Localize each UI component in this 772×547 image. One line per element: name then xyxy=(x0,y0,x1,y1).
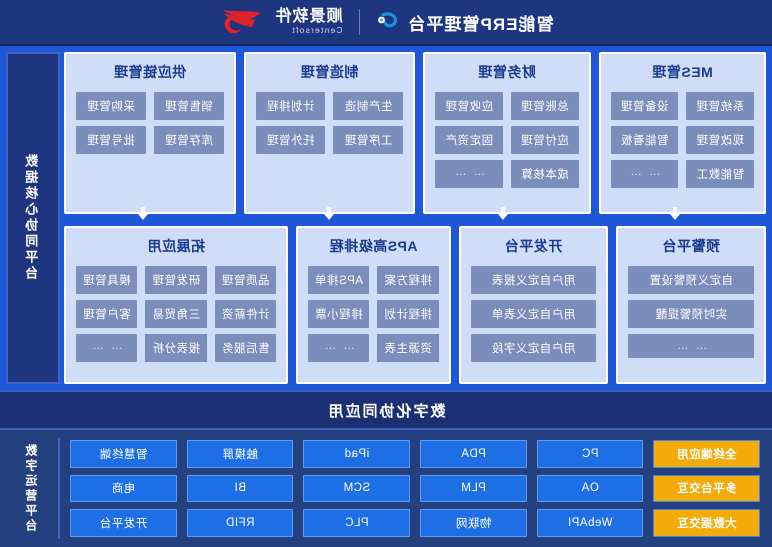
chip-item[interactable]: 模具管理 xyxy=(76,266,137,294)
data-core-rail-label: 数据核心协同平台 xyxy=(24,154,42,282)
chip-item[interactable]: 库存管理 xyxy=(154,126,224,154)
tile-iot[interactable]: 物联网 xyxy=(420,509,527,537)
chip-grid: 排程方案 APS排单 排程计划 排程小票 资源主表 … … xyxy=(308,266,438,362)
chip-item[interactable]: 采购管理 xyxy=(76,92,146,120)
chip-item[interactable]: 设备管理 xyxy=(611,92,679,120)
chip-grid: 用户自定义报表 用户自定义表单 用户自定义字段 xyxy=(471,266,597,362)
main-panel: MES管理 系统管理 设备管理 现改管理 智能看板 智能数工 … … 财务管理 xyxy=(0,46,772,390)
tile-plm[interactable]: PLM xyxy=(420,475,527,503)
tile-ecommerce[interactable]: 电商 xyxy=(70,475,177,503)
digital-collab-band: 数字化协同应用 xyxy=(0,390,772,430)
tile-multi-platform[interactable]: 多平台交互 xyxy=(653,475,760,503)
chip-item[interactable]: 总账管理 xyxy=(511,92,579,120)
card-extended-apps[interactable]: 拓展应用 品质管理 研发管理 模具管理 计件薪资 三角贸易 客户管理 售后服务 … xyxy=(64,226,288,384)
header-divider xyxy=(359,9,360,35)
chip-item[interactable]: 现改管理 xyxy=(686,126,754,154)
chip-item[interactable]: 报表分析 xyxy=(145,334,206,362)
app-header: 智能ERP管理平台 顺景软件 Centersoft xyxy=(0,0,772,46)
chip-item[interactable]: 三角贸易 xyxy=(145,300,206,328)
arrow-down-icon xyxy=(668,207,682,220)
brand-name-cn: 顺景软件 xyxy=(275,9,343,26)
chip-item[interactable]: 工序管理 xyxy=(333,126,403,154)
chip-item[interactable]: 自定义预警设置 xyxy=(628,266,754,294)
tile-touchscreen[interactable]: 触摸屏 xyxy=(187,440,294,468)
header-inner: 智能ERP管理平台 顺景软件 Centersoft xyxy=(219,7,554,37)
page-title-text: 智能ERP管理平台 xyxy=(408,10,554,35)
chip-item[interactable]: 品质管理 xyxy=(215,266,276,294)
page-title: 智能ERP管理平台 xyxy=(376,10,554,35)
bottom-panel: 全终端应用 PC PDA iPad 触摸屏 智慧终端 多平台交互 OA PLM … xyxy=(0,430,772,547)
chip-item[interactable]: 智能看板 xyxy=(611,126,679,154)
module-row-top: MES管理 系统管理 设备管理 现改管理 智能看板 智能数工 … … 财务管理 xyxy=(64,52,766,214)
chip-item[interactable]: 计件薪资 xyxy=(215,300,276,328)
chip-grid: 自定义预警设置 实时预警提醒 … … xyxy=(628,266,754,358)
card-title: 财务管理 xyxy=(435,62,578,82)
chip-item[interactable]: APS排单 xyxy=(308,266,369,294)
tile-oa[interactable]: OA xyxy=(537,475,644,503)
chip-item[interactable]: 计划排程 xyxy=(256,92,326,120)
chip-item[interactable]: 应付管理 xyxy=(511,126,579,154)
arrow-down-icon xyxy=(496,207,510,220)
tile-all-terminal[interactable]: 全终端应用 xyxy=(653,440,760,468)
chip-item[interactable]: 售后服务 xyxy=(215,334,276,362)
chip-item-more[interactable]: … … xyxy=(611,160,679,188)
main-body: MES管理 系统管理 设备管理 现改管理 智能看板 智能数工 … … 财务管理 xyxy=(6,52,766,384)
chip-item[interactable]: 用户自定义字段 xyxy=(471,334,597,362)
tile-ipad[interactable]: iPad xyxy=(303,440,410,468)
card-title: 开发平台 xyxy=(471,236,597,256)
brand-block: 顺景软件 Centersoft xyxy=(275,9,343,36)
chip-item[interactable]: 排程方案 xyxy=(377,266,438,294)
tile-pda[interactable]: PDA xyxy=(420,440,527,468)
tile-dev-platform[interactable]: 开发平台 xyxy=(70,509,177,537)
chip-item-more[interactable]: … … xyxy=(435,160,503,188)
card-supply-chain[interactable]: 供应链管理 销售管理 采购管理 库存管理 批号管理 xyxy=(64,52,236,214)
chip-item[interactable]: 排程计划 xyxy=(377,300,438,328)
tile-scm[interactable]: SCM xyxy=(303,475,410,503)
arrow-down-icon xyxy=(322,207,336,220)
card-title: 制造管理 xyxy=(256,62,404,82)
card-title: MES管理 xyxy=(611,62,754,82)
chip-item[interactable]: 实时预警提醒 xyxy=(628,300,754,328)
module-columns: MES管理 系统管理 设备管理 现改管理 智能看板 智能数工 … … 财务管理 xyxy=(64,52,766,384)
tile-pc[interactable]: PC xyxy=(537,440,644,468)
sc-swirl-icon xyxy=(376,11,400,33)
chip-item-more[interactable]: … … xyxy=(76,334,137,362)
card-aps[interactable]: APS高级排程 排程方案 APS排单 排程计划 排程小票 资源主表 … … xyxy=(296,226,450,384)
chip-item[interactable]: 生产制造 xyxy=(333,92,403,120)
card-mes[interactable]: MES管理 系统管理 设备管理 现改管理 智能看板 智能数工 … … xyxy=(599,52,766,214)
chip-item[interactable]: 批号管理 xyxy=(76,126,146,154)
centersoft-logo-icon xyxy=(219,7,265,37)
tile-bigdata[interactable]: 大数据交互 xyxy=(653,509,760,537)
terminal-tile-grid: 全终端应用 PC PDA iPad 触摸屏 智慧终端 多平台交互 OA PLM … xyxy=(64,438,766,539)
tile-smart-terminal[interactable]: 智慧终端 xyxy=(70,440,177,468)
arrow-down-icon xyxy=(136,207,150,220)
tile-plc[interactable]: PLC xyxy=(303,509,410,537)
chip-grid: 总账管理 应收管理 应付管理 固定资产 成本核算 … … xyxy=(435,92,578,188)
digital-ops-rail: 数字运营平台 xyxy=(6,438,60,539)
chip-item[interactable]: 托外管理 xyxy=(256,126,326,154)
card-alert-platform[interactable]: 预警平台 自定义预警设置 实时预警提醒 … … xyxy=(616,226,766,384)
tile-rfid[interactable]: RFID xyxy=(187,509,294,537)
brand-name-en: Centersoft xyxy=(275,25,343,35)
chip-item[interactable]: 应收管理 xyxy=(435,92,503,120)
diagram-stage: 智能ERP管理平台 顺景软件 Centersoft xyxy=(0,0,772,547)
chip-item-more[interactable]: … … xyxy=(628,334,754,358)
chip-item[interactable]: 资源主表 xyxy=(377,334,438,362)
chip-grid: 系统管理 设备管理 现改管理 智能看板 智能数工 … … xyxy=(611,92,754,188)
card-dev-platform[interactable]: 开发平台 用户自定义报表 用户自定义表单 用户自定义字段 xyxy=(459,226,609,384)
card-finance[interactable]: 财务管理 总账管理 应收管理 应付管理 固定资产 成本核算 … … xyxy=(423,52,590,214)
chip-item[interactable]: 销售管理 xyxy=(154,92,224,120)
chip-item[interactable]: 系统管理 xyxy=(686,92,754,120)
tile-bi[interactable]: BI xyxy=(187,475,294,503)
chip-grid: 生产制造 计划排程 工序管理 托外管理 xyxy=(256,92,404,154)
chip-grid: 品质管理 研发管理 模具管理 计件薪资 三角贸易 客户管理 售后服务 报表分析 … xyxy=(76,266,276,362)
chip-item[interactable]: 研发管理 xyxy=(145,266,206,294)
chip-item-more[interactable]: … … xyxy=(308,334,369,362)
data-core-rail: 数据核心协同平台 xyxy=(6,52,60,384)
chip-item[interactable]: 成本核算 xyxy=(511,160,579,188)
chip-item[interactable]: 客户管理 xyxy=(76,300,137,328)
chip-item[interactable]: 智能数工 xyxy=(686,160,754,188)
chip-item[interactable]: 用户自定义表单 xyxy=(471,300,597,328)
card-title: 拓展应用 xyxy=(76,236,276,256)
card-manufacturing[interactable]: 制造管理 生产制造 计划排程 工序管理 托外管理 xyxy=(244,52,416,214)
card-title: 预警平台 xyxy=(628,236,754,256)
digital-collab-band-label: 数字化协同应用 xyxy=(327,400,446,421)
chip-grid: 销售管理 采购管理 库存管理 批号管理 xyxy=(76,92,224,154)
chip-item[interactable]: 固定资产 xyxy=(435,126,503,154)
chip-item[interactable]: 排程小票 xyxy=(308,300,369,328)
chip-item[interactable]: 用户自定义报表 xyxy=(471,266,597,294)
tile-webapi[interactable]: WebAPI xyxy=(537,509,644,537)
card-title: APS高级排程 xyxy=(308,236,438,256)
module-row-bottom: 预警平台 自定义预警设置 实时预警提醒 … … 开发平台 用户自定义报表 用户自… xyxy=(64,226,766,384)
digital-ops-rail-label: 数字运营平台 xyxy=(24,444,40,534)
card-title: 供应链管理 xyxy=(76,62,224,82)
